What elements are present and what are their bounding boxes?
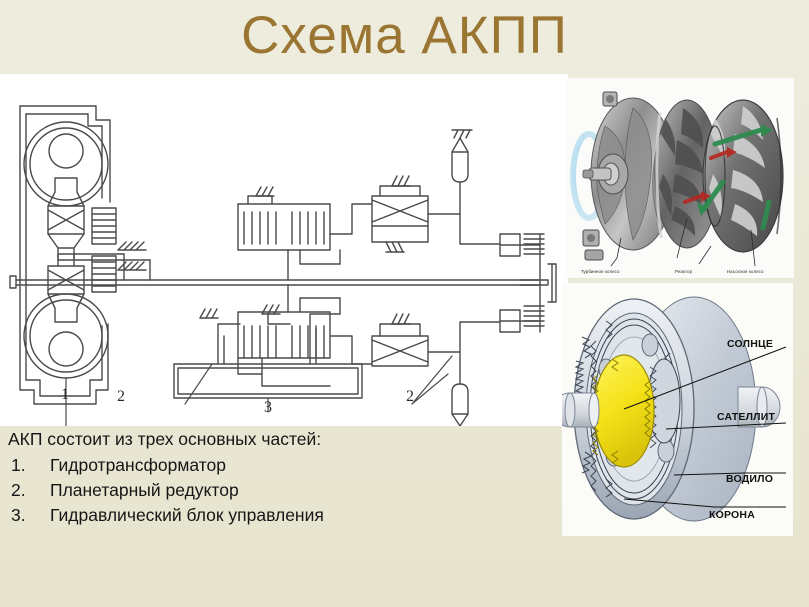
gear-label-sun: СОЛНЦЕ	[727, 338, 773, 350]
list-item: 1. Гидротрансформатор	[8, 453, 508, 478]
transmission-schematic-panel: 1 2 3 2	[0, 74, 568, 426]
planetary-gear-photo: СОЛНЦЕ САТЕЛЛИТ ВОДИЛО КОРОНА	[562, 283, 793, 536]
schematic-figure-number-1: 1	[61, 386, 69, 404]
gear-label-ring: КОРОНА	[709, 509, 755, 521]
list-item: 2. Планетарный редуктор	[8, 478, 508, 503]
content-lead-line: АКП состоит из трех основных частей:	[8, 427, 508, 452]
torque-converter-caption-reactor: Реактор	[675, 269, 692, 274]
list-item-number: 1.	[11, 453, 26, 478]
planetary-gearset-illustration	[562, 283, 793, 536]
gear-label-carrier: ВОДИЛО	[726, 473, 773, 485]
list-item-label: Гидравлический блок управления	[50, 505, 324, 525]
page-title: Схема АКПП	[0, 6, 809, 66]
torque-converter-photo: Турбинное колесо Реактор Насосное колесо	[565, 78, 794, 278]
gear-label-planet: САТЕЛЛИТ	[717, 411, 775, 423]
torque-converter-caption-pump: Насосное колесо	[727, 269, 764, 274]
torque-converter-caption-turbine: Турбинное колесо	[581, 269, 620, 274]
schematic-figure-number-3: 3	[264, 399, 272, 417]
list-item-number: 3.	[11, 503, 26, 528]
list-item-label: Планетарный редуктор	[50, 480, 239, 500]
slide-canvas: Схема АКПП	[0, 0, 809, 607]
content-text-block: АКП состоит из трех основных частей: 1. …	[8, 427, 508, 528]
list-item: 3. Гидравлический блок управления	[8, 503, 508, 528]
torque-converter-illustration	[565, 78, 794, 278]
content-numbered-list: 1. Гидротрансформатор 2. Планетарный ред…	[8, 453, 508, 528]
schematic-figure-number-2-right: 2	[406, 388, 414, 406]
list-item-number: 2.	[11, 478, 26, 503]
transmission-schematic-drawing	[0, 74, 568, 426]
list-item-label: Гидротрансформатор	[50, 455, 226, 475]
schematic-figure-number-2-left: 2	[117, 388, 125, 406]
